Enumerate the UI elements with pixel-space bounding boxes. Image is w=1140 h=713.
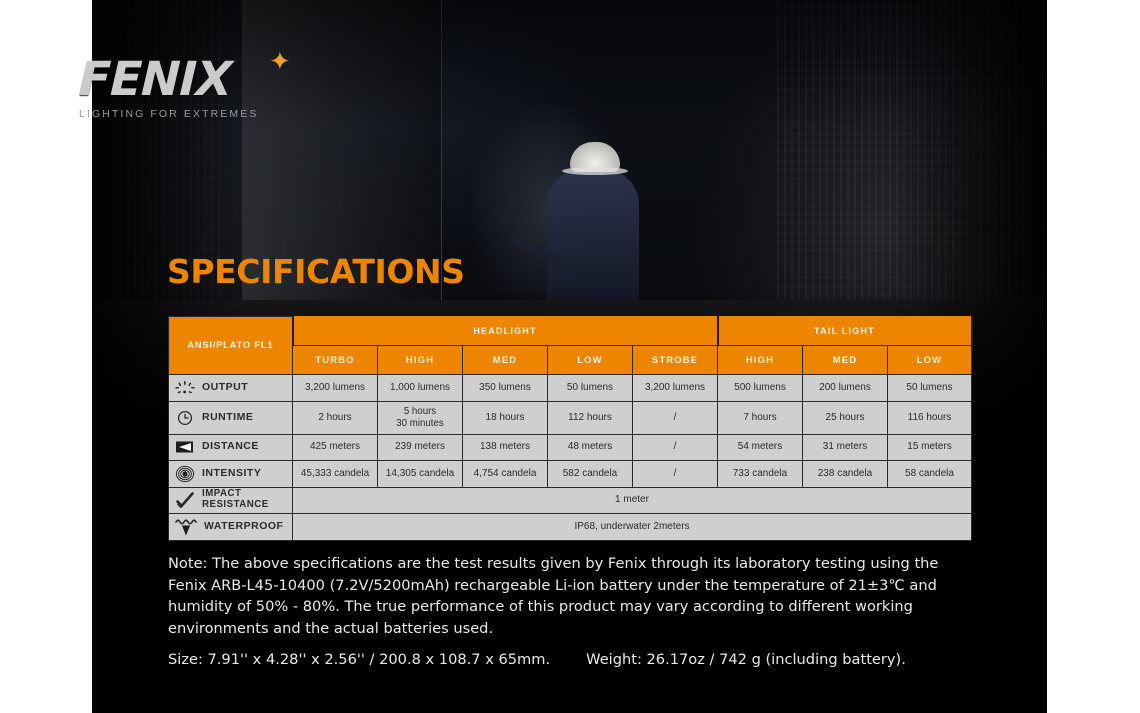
brand-tagline: LIGHTING FOR EXTREMES	[79, 108, 339, 120]
row-label-text: IMPACTRESISTANCE	[202, 489, 269, 511]
cell-distance-low: 48 meters	[548, 434, 633, 461]
mode-header-tail-low: LOW	[888, 346, 972, 375]
cell-runtime-high: 5 hours30 minutes	[378, 401, 463, 434]
weight-text: Weight: 26.17oz / 742 g (including batte…	[586, 651, 906, 668]
cell-distance-med: 138 meters	[463, 434, 548, 461]
table-row: RUNTIME 2 hours 5 hours30 minutes 18 hou…	[169, 401, 972, 434]
cell-intensity-high: 14,305 candela	[378, 461, 463, 488]
cell-distance-high: 239 meters	[378, 434, 463, 461]
table-row: INTENSITY 45,333 candela 14,305 candela …	[169, 461, 972, 488]
row-label-text: WATERPROOF	[204, 521, 283, 533]
mode-header-low: LOW	[548, 346, 633, 375]
cell-output-turbo: 3,200 lumens	[293, 375, 378, 402]
cell-intensity-med: 4,754 candela	[463, 461, 548, 488]
cell-distance-strobe: /	[633, 434, 718, 461]
specifications-table-wrap: ANSI/PLATO FL1 HEADLIGHT TAIL LIGHT TURB…	[168, 316, 971, 541]
cell-intensity-tail-high: 733 candela	[718, 461, 803, 488]
specifications-page: ✦ FENIX LIGHTING FOR EXTREMES SPECIFICAT…	[0, 0, 1140, 713]
cell-output-tail-high: 500 lumens	[718, 375, 803, 402]
table-row: OUTPUT 3,200 lumens 1,000 lumens 350 lum…	[169, 375, 972, 402]
table-row: DISTANCE 425 meters 239 meters 138 meter…	[169, 434, 972, 461]
cell-intensity-tail-low: 58 candela	[888, 461, 972, 488]
cell-waterproof-value: IP68, underwater 2meters	[293, 514, 972, 541]
size-weight-line: Size: 7.91'' x 4.28'' x 2.56'' / 200.8 x…	[168, 651, 974, 668]
cell-runtime-med: 18 hours	[463, 401, 548, 434]
row-label-intensity: INTENSITY	[169, 461, 293, 488]
cell-output-low: 50 lumens	[548, 375, 633, 402]
row-label-impact-resistance: IMPACTRESISTANCE	[169, 487, 293, 514]
cell-runtime-strobe: /	[633, 401, 718, 434]
cell-output-tail-low: 50 lumens	[888, 375, 972, 402]
mode-header-strobe: STROBE	[633, 346, 718, 375]
cell-distance-tail-low: 15 meters	[888, 434, 972, 461]
fenix-logo: ✦ FENIX LIGHTING FOR EXTREMES	[79, 56, 339, 120]
cell-runtime-tail-med: 25 hours	[803, 401, 888, 434]
mode-header-tail-high: HIGH	[718, 346, 803, 375]
row-label-text: OUTPUT	[202, 382, 248, 394]
row-label-output: OUTPUT	[169, 375, 293, 402]
mode-header-turbo: TURBO	[293, 346, 378, 375]
row-label-waterproof: WATERPROOF	[169, 514, 293, 541]
cell-distance-tail-high: 54 meters	[718, 434, 803, 461]
cell-distance-tail-med: 31 meters	[803, 434, 888, 461]
page-title: SPECIFICATIONS	[167, 252, 465, 291]
cell-intensity-low: 582 candela	[548, 461, 633, 488]
corner-label: ANSI/PLATO FL1	[169, 317, 293, 375]
cell-runtime-low: 112 hours	[548, 401, 633, 434]
table-row: IMPACTRESISTANCE 1 meter	[169, 487, 972, 514]
cell-impact-resistance-value: 1 meter	[293, 487, 972, 514]
table-row: WATERPROOF IP68, underwater 2meters	[169, 514, 972, 541]
hammer-check-icon	[175, 490, 195, 510]
cell-runtime-tail-low: 116 hours	[888, 401, 972, 434]
cell-runtime-turbo: 2 hours	[293, 401, 378, 434]
group-header-headlight: HEADLIGHT	[293, 317, 718, 346]
row-label-distance: DISTANCE	[169, 434, 293, 461]
cell-output-high: 1,000 lumens	[378, 375, 463, 402]
mode-header-med: MED	[463, 346, 548, 375]
water-drop-icon	[175, 517, 197, 537]
cell-output-strobe: 3,200 lumens	[633, 375, 718, 402]
specifications-table: ANSI/PLATO FL1 HEADLIGHT TAIL LIGHT TURB…	[168, 316, 973, 541]
cell-runtime-tail-high: 7 hours	[718, 401, 803, 434]
brand-wordmark: FENIX	[78, 56, 340, 103]
burst-icon	[175, 381, 195, 395]
cell-output-med: 350 lumens	[463, 375, 548, 402]
target-icon	[175, 465, 195, 483]
row-label-text: INTENSITY	[202, 468, 261, 480]
mode-header-high: HIGH	[378, 346, 463, 375]
cell-distance-turbo: 425 meters	[293, 434, 378, 461]
table-group-header-row: ANSI/PLATO FL1 HEADLIGHT TAIL LIGHT	[169, 317, 972, 346]
row-label-runtime: RUNTIME	[169, 401, 293, 434]
clock-icon	[175, 410, 195, 426]
row-label-text: RUNTIME	[202, 412, 253, 424]
cell-intensity-turbo: 45,333 candela	[293, 461, 378, 488]
cell-output-tail-med: 200 lumens	[803, 375, 888, 402]
note-text: Note: The above specifications are the t…	[168, 553, 974, 639]
beam-icon	[175, 440, 195, 454]
size-text: Size: 7.91'' x 4.28'' x 2.56'' / 200.8 x…	[168, 651, 550, 668]
row-label-text: DISTANCE	[202, 441, 259, 453]
mode-header-tail-med: MED	[803, 346, 888, 375]
cell-intensity-strobe: /	[633, 461, 718, 488]
cell-intensity-tail-med: 238 candela	[803, 461, 888, 488]
group-header-taillight: TAIL LIGHT	[718, 317, 972, 346]
